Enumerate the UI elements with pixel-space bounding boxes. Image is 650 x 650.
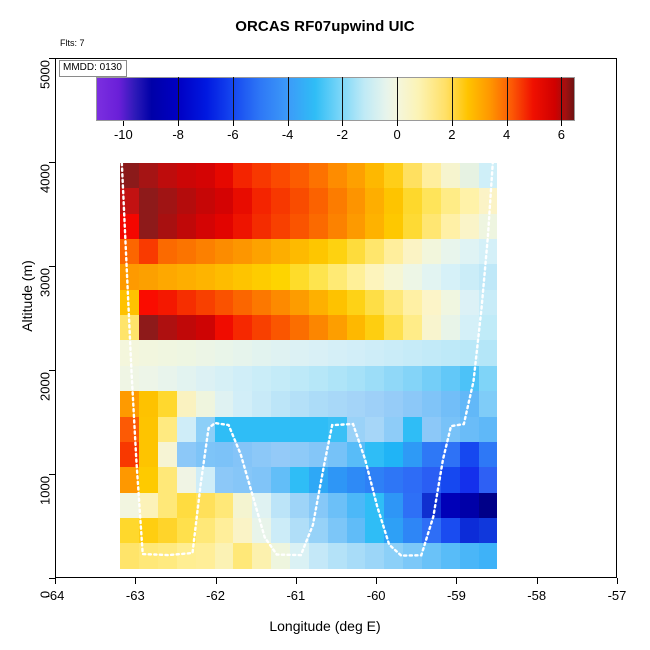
- colorbar-tick: [397, 121, 398, 126]
- heatmap-cell: [196, 366, 215, 392]
- heatmap-row: [120, 417, 497, 443]
- colorbar-tick-label: 0: [393, 127, 400, 142]
- x-axis-tick-label: -63: [126, 588, 145, 603]
- heatmap-cell: [215, 214, 234, 240]
- heatmap-cell: [347, 391, 366, 417]
- heatmap-cell: [120, 188, 139, 214]
- heatmap-cell: [290, 518, 309, 544]
- heatmap-cell: [384, 188, 403, 214]
- x-axis-tick: [617, 578, 618, 584]
- heatmap-cell: [215, 543, 234, 568]
- heatmap-cell: [252, 340, 271, 366]
- heatmap-cell: [120, 214, 139, 240]
- colorbar-tick: [342, 121, 343, 126]
- heatmap-cell: [328, 518, 347, 544]
- heatmap-cell: [252, 518, 271, 544]
- heatmap-cell: [347, 340, 366, 366]
- heatmap-cell: [460, 290, 479, 316]
- heatmap-cell: [196, 442, 215, 468]
- heatmap-cell: [309, 417, 328, 443]
- heatmap-cell: [252, 417, 271, 443]
- heatmap-cell: [460, 391, 479, 417]
- colorbar-divider: [397, 77, 398, 121]
- y-axis-tick-label: 2000: [38, 370, 53, 404]
- heatmap-cell: [441, 543, 460, 568]
- heatmap-cell: [403, 264, 422, 290]
- heatmap-cell: [215, 467, 234, 493]
- heatmap-cell: [215, 239, 234, 265]
- heatmap-cell: [328, 214, 347, 240]
- heatmap-cell: [120, 493, 139, 519]
- heatmap-cell: [328, 290, 347, 316]
- heatmap-cell: [403, 518, 422, 544]
- heatmap-cell: [158, 518, 177, 544]
- heatmap-cell: [365, 543, 384, 568]
- heatmap-cell: [139, 264, 158, 290]
- heatmap-cell: [384, 163, 403, 189]
- heatmap-cell: [215, 417, 234, 443]
- heatmap-cell: [158, 391, 177, 417]
- heatmap-cell: [196, 163, 215, 189]
- heatmap-cell: [196, 239, 215, 265]
- heatmap-cell: [479, 366, 498, 392]
- heatmap-cell: [120, 315, 139, 341]
- heatmap-cell: [290, 467, 309, 493]
- heatmap-cell: [252, 442, 271, 468]
- heatmap-cell: [139, 315, 158, 341]
- heatmap-cell: [347, 188, 366, 214]
- heatmap-row: [120, 340, 497, 366]
- heatmap-cell: [441, 239, 460, 265]
- heatmap-cell: [271, 391, 290, 417]
- heatmap-cell: [233, 188, 252, 214]
- x-axis-tick: [537, 578, 538, 584]
- heatmap-cell: [365, 264, 384, 290]
- heatmap-cell: [309, 442, 328, 468]
- heatmap-cell: [271, 366, 290, 392]
- heatmap-row: [120, 442, 497, 468]
- heatmap-cell: [233, 518, 252, 544]
- heatmap-cell: [460, 543, 479, 568]
- heatmap-row: [120, 264, 497, 290]
- heatmap-cell: [215, 315, 234, 341]
- heatmap-cell: [441, 442, 460, 468]
- x-axis-tick: [135, 578, 136, 584]
- heatmap-cell: [290, 188, 309, 214]
- heatmap-cell: [158, 163, 177, 189]
- heatmap-cell: [328, 340, 347, 366]
- y-axis-tick-label: 5000: [38, 58, 53, 92]
- colorbar-tick-label: 4: [503, 127, 510, 142]
- heatmap-cell: [158, 315, 177, 341]
- x-axis-tick: [55, 578, 56, 584]
- heatmap-cell: [479, 518, 498, 544]
- heatmap-cell: [347, 214, 366, 240]
- heatmap-cell: [384, 493, 403, 519]
- heatmap-cell: [252, 163, 271, 189]
- heatmap-cell: [271, 163, 290, 189]
- heatmap-cell: [365, 518, 384, 544]
- heatmap-cell: [290, 214, 309, 240]
- heatmap-cell: [309, 163, 328, 189]
- heatmap-cell: [422, 188, 441, 214]
- colorbar-tick: [123, 121, 124, 126]
- heatmap-cell: [403, 315, 422, 341]
- heatmap-cell: [422, 290, 441, 316]
- heatmap-cell: [441, 518, 460, 544]
- heatmap-grid: [120, 163, 497, 569]
- x-axis-tick-label: -61: [286, 588, 305, 603]
- colorbar-tick-label: -8: [172, 127, 184, 142]
- heatmap-cell: [120, 417, 139, 443]
- heatmap-cell: [271, 239, 290, 265]
- heatmap-cell: [271, 214, 290, 240]
- heatmap-cell: [233, 239, 252, 265]
- heatmap-cell: [290, 493, 309, 519]
- heatmap-cell: [328, 391, 347, 417]
- heatmap-cell: [120, 366, 139, 392]
- page-title: ORCAS RF07upwind UIC: [0, 18, 650, 35]
- heatmap-cell: [290, 417, 309, 443]
- heatmap-cell: [384, 366, 403, 392]
- heatmap-cell: [441, 315, 460, 341]
- heatmap-cell: [479, 543, 498, 568]
- heatmap-cell: [384, 290, 403, 316]
- heatmap-cell: [422, 543, 441, 568]
- heatmap-cell: [328, 442, 347, 468]
- heatmap-cell: [139, 290, 158, 316]
- heatmap-cell: [252, 493, 271, 519]
- heatmap-cell: [271, 493, 290, 519]
- heatmap-cell: [252, 264, 271, 290]
- heatmap-cell: [347, 518, 366, 544]
- heatmap-cell: [252, 391, 271, 417]
- heatmap-cell: [215, 163, 234, 189]
- heatmap-cell: [120, 290, 139, 316]
- heatmap-cell: [441, 366, 460, 392]
- colorbar-divider: [288, 77, 289, 121]
- heatmap-cell: [215, 188, 234, 214]
- heatmap-cell: [233, 467, 252, 493]
- heatmap-cell: [347, 467, 366, 493]
- heatmap-cell: [328, 493, 347, 519]
- heatmap-cell: [403, 467, 422, 493]
- heatmap-cell: [271, 340, 290, 366]
- colorbar-tick: [233, 121, 234, 126]
- heatmap-cell: [403, 543, 422, 568]
- heatmap-cell: [120, 340, 139, 366]
- heatmap-cell: [215, 493, 234, 519]
- heatmap-cell: [215, 391, 234, 417]
- heatmap-cell: [196, 340, 215, 366]
- heatmap-cell: [196, 214, 215, 240]
- heatmap-cell: [252, 543, 271, 568]
- heatmap-cell: [290, 543, 309, 568]
- flights-count-annotation: Flts: 7: [60, 38, 85, 48]
- heatmap-cell: [139, 214, 158, 240]
- heatmap-cell: [290, 340, 309, 366]
- heatmap-cell: [422, 264, 441, 290]
- heatmap-cell: [196, 391, 215, 417]
- heatmap-cell: [309, 366, 328, 392]
- chart-figure: ORCAS RF07upwind UIC Flts: 7 MMDD: 0130 …: [0, 0, 650, 650]
- heatmap-cell: [460, 340, 479, 366]
- heatmap-cell: [271, 264, 290, 290]
- colorbar-divider: [342, 77, 343, 121]
- heatmap-cell: [441, 340, 460, 366]
- heatmap-cell: [290, 290, 309, 316]
- heatmap-cell: [384, 264, 403, 290]
- heatmap-cell: [233, 214, 252, 240]
- heatmap-cell: [196, 493, 215, 519]
- heatmap-cell: [215, 442, 234, 468]
- heatmap-cell: [177, 417, 196, 443]
- heatmap-cell: [460, 442, 479, 468]
- heatmap-cell: [403, 214, 422, 240]
- heatmap-cell: [158, 239, 177, 265]
- heatmap-cell: [460, 239, 479, 265]
- heatmap-cell: [422, 417, 441, 443]
- heatmap-cell: [384, 442, 403, 468]
- heatmap-cell: [196, 264, 215, 290]
- heatmap-cell: [460, 493, 479, 519]
- heatmap-cell: [233, 442, 252, 468]
- heatmap-cell: [403, 442, 422, 468]
- heatmap-cell: [460, 264, 479, 290]
- heatmap-cell: [139, 543, 158, 568]
- heatmap-cell: [384, 340, 403, 366]
- heatmap-cell: [252, 315, 271, 341]
- heatmap-cell: [177, 188, 196, 214]
- heatmap-cell: [177, 163, 196, 189]
- heatmap-cell: [233, 340, 252, 366]
- heatmap-cell: [309, 493, 328, 519]
- heatmap-cell: [479, 188, 498, 214]
- heatmap-cell: [252, 290, 271, 316]
- heatmap-cell: [403, 391, 422, 417]
- heatmap-cell: [422, 391, 441, 417]
- heatmap-cell: [328, 467, 347, 493]
- y-axis-tick-label: 3000: [38, 266, 53, 300]
- heatmap-cell: [422, 493, 441, 519]
- heatmap-cell: [441, 467, 460, 493]
- heatmap-cell: [158, 543, 177, 568]
- heatmap-cell: [328, 239, 347, 265]
- heatmap-cell: [460, 163, 479, 189]
- heatmap-cell: [233, 543, 252, 568]
- heatmap-cell: [347, 417, 366, 443]
- heatmap-cell: [139, 340, 158, 366]
- heatmap-cell: [479, 163, 498, 189]
- heatmap-cell: [441, 290, 460, 316]
- colorbar-tick-label: -2: [337, 127, 349, 142]
- heatmap-row: [120, 163, 497, 189]
- heatmap-cell: [365, 290, 384, 316]
- heatmap-cell: [158, 417, 177, 443]
- heatmap-row: [120, 239, 497, 265]
- heatmap-cell: [403, 340, 422, 366]
- heatmap-cell: [252, 366, 271, 392]
- heatmap-cell: [460, 188, 479, 214]
- x-axis-tick-label: -62: [206, 588, 225, 603]
- heatmap-cell: [177, 543, 196, 568]
- heatmap-cell: [347, 163, 366, 189]
- heatmap-cell: [403, 417, 422, 443]
- heatmap-cell: [479, 493, 498, 519]
- heatmap-cell: [328, 543, 347, 568]
- heatmap-cell: [120, 264, 139, 290]
- heatmap-cell: [158, 340, 177, 366]
- heatmap-cell: [158, 467, 177, 493]
- x-axis-tick: [216, 578, 217, 584]
- heatmap-cell: [252, 188, 271, 214]
- heatmap-cell: [347, 315, 366, 341]
- heatmap-cell: [139, 239, 158, 265]
- colorbar-tick-label: 2: [448, 127, 455, 142]
- colorbar-divider: [233, 77, 234, 121]
- heatmap-cell: [177, 366, 196, 392]
- heatmap-cell: [177, 493, 196, 519]
- heatmap-cell: [177, 290, 196, 316]
- heatmap-cell: [290, 315, 309, 341]
- y-axis-tick-label: 0: [38, 578, 53, 612]
- heatmap-cell: [365, 214, 384, 240]
- heatmap-cell: [309, 290, 328, 316]
- heatmap-cell: [479, 391, 498, 417]
- x-axis-tick-label: -57: [608, 588, 627, 603]
- heatmap-cell: [309, 340, 328, 366]
- heatmap-row: [120, 518, 497, 544]
- date-annotation: MMDD: 0130: [59, 60, 127, 77]
- heatmap-row: [120, 214, 497, 240]
- heatmap-cell: [328, 188, 347, 214]
- heatmap-cell: [233, 163, 252, 189]
- colorbar-tick-label: -10: [114, 127, 133, 142]
- colorbar-divider: [561, 77, 562, 121]
- heatmap-cell: [365, 493, 384, 519]
- heatmap-cell: [403, 366, 422, 392]
- heatmap-cell: [290, 442, 309, 468]
- heatmap-cell: [139, 163, 158, 189]
- heatmap-cell: [139, 493, 158, 519]
- heatmap-cell: [460, 315, 479, 341]
- heatmap-cell: [365, 467, 384, 493]
- x-axis-tick-label: -59: [447, 588, 466, 603]
- heatmap-cell: [347, 366, 366, 392]
- heatmap-cell: [271, 315, 290, 341]
- heatmap-cell: [403, 163, 422, 189]
- heatmap-cell: [384, 467, 403, 493]
- colorbar-divider: [178, 77, 179, 121]
- heatmap-cell: [365, 366, 384, 392]
- heatmap-cell: [328, 264, 347, 290]
- y-axis-tick-label: 4000: [38, 162, 53, 196]
- heatmap-cell: [422, 518, 441, 544]
- heatmap-row: [120, 366, 497, 392]
- heatmap-cell: [365, 391, 384, 417]
- heatmap-row: [120, 543, 497, 568]
- heatmap-cell: [403, 188, 422, 214]
- heatmap-cell: [384, 214, 403, 240]
- x-axis-tick-label: -58: [527, 588, 546, 603]
- heatmap-cell: [479, 290, 498, 316]
- heatmap-cell: [479, 315, 498, 341]
- heatmap-cell: [365, 340, 384, 366]
- heatmap-cell: [120, 391, 139, 417]
- heatmap-cell: [158, 366, 177, 392]
- heatmap-cell: [347, 239, 366, 265]
- heatmap-cell: [365, 239, 384, 265]
- heatmap-cell: [422, 163, 441, 189]
- heatmap-cell: [271, 467, 290, 493]
- heatmap-cell: [196, 290, 215, 316]
- heatmap-cell: [479, 214, 498, 240]
- heatmap-cell: [233, 417, 252, 443]
- colorbar-tick: [288, 121, 289, 126]
- heatmap-cell: [290, 239, 309, 265]
- heatmap-cell: [177, 264, 196, 290]
- heatmap-cell: [215, 366, 234, 392]
- colorbar-gradient: [96, 77, 575, 121]
- heatmap-cell: [347, 493, 366, 519]
- heatmap-row: [120, 493, 497, 519]
- heatmap-cell: [347, 290, 366, 316]
- heatmap-cell: [309, 518, 328, 544]
- y-axis-tick-label: 1000: [38, 474, 53, 508]
- heatmap-cell: [196, 188, 215, 214]
- heatmap-cell: [233, 290, 252, 316]
- heatmap-cell: [177, 315, 196, 341]
- heatmap-row: [120, 188, 497, 214]
- colorbar-tick: [452, 121, 453, 126]
- colorbar-tick: [561, 121, 562, 126]
- heatmap-cell: [271, 518, 290, 544]
- heatmap-cell: [460, 366, 479, 392]
- heatmap-cell: [177, 214, 196, 240]
- heatmap-cell: [120, 442, 139, 468]
- heatmap-cell: [422, 214, 441, 240]
- heatmap-cell: [158, 493, 177, 519]
- heatmap-cell: [196, 417, 215, 443]
- heatmap-cell: [441, 163, 460, 189]
- heatmap-cell: [328, 366, 347, 392]
- heatmap-cell: [120, 163, 139, 189]
- heatmap-cell: [309, 543, 328, 568]
- heatmap-cell: [460, 417, 479, 443]
- heatmap-cell: [252, 214, 271, 240]
- heatmap-cell: [365, 315, 384, 341]
- heatmap-cell: [271, 442, 290, 468]
- colorbar-tick-label: -4: [282, 127, 294, 142]
- heatmap-cell: [347, 442, 366, 468]
- heatmap-cell: [365, 163, 384, 189]
- heatmap-cell: [233, 315, 252, 341]
- heatmap-cell: [252, 467, 271, 493]
- heatmap-cell: [403, 290, 422, 316]
- heatmap-cell: [365, 188, 384, 214]
- heatmap-cell: [139, 417, 158, 443]
- heatmap-cell: [271, 290, 290, 316]
- heatmap-cell: [233, 493, 252, 519]
- heatmap-cell: [290, 163, 309, 189]
- heatmap-cell: [441, 264, 460, 290]
- heatmap-cell: [177, 239, 196, 265]
- heatmap-row: [120, 391, 497, 417]
- heatmap-cell: [422, 239, 441, 265]
- x-axis-tick: [456, 578, 457, 584]
- heatmap-cell: [196, 315, 215, 341]
- heatmap-cell: [290, 391, 309, 417]
